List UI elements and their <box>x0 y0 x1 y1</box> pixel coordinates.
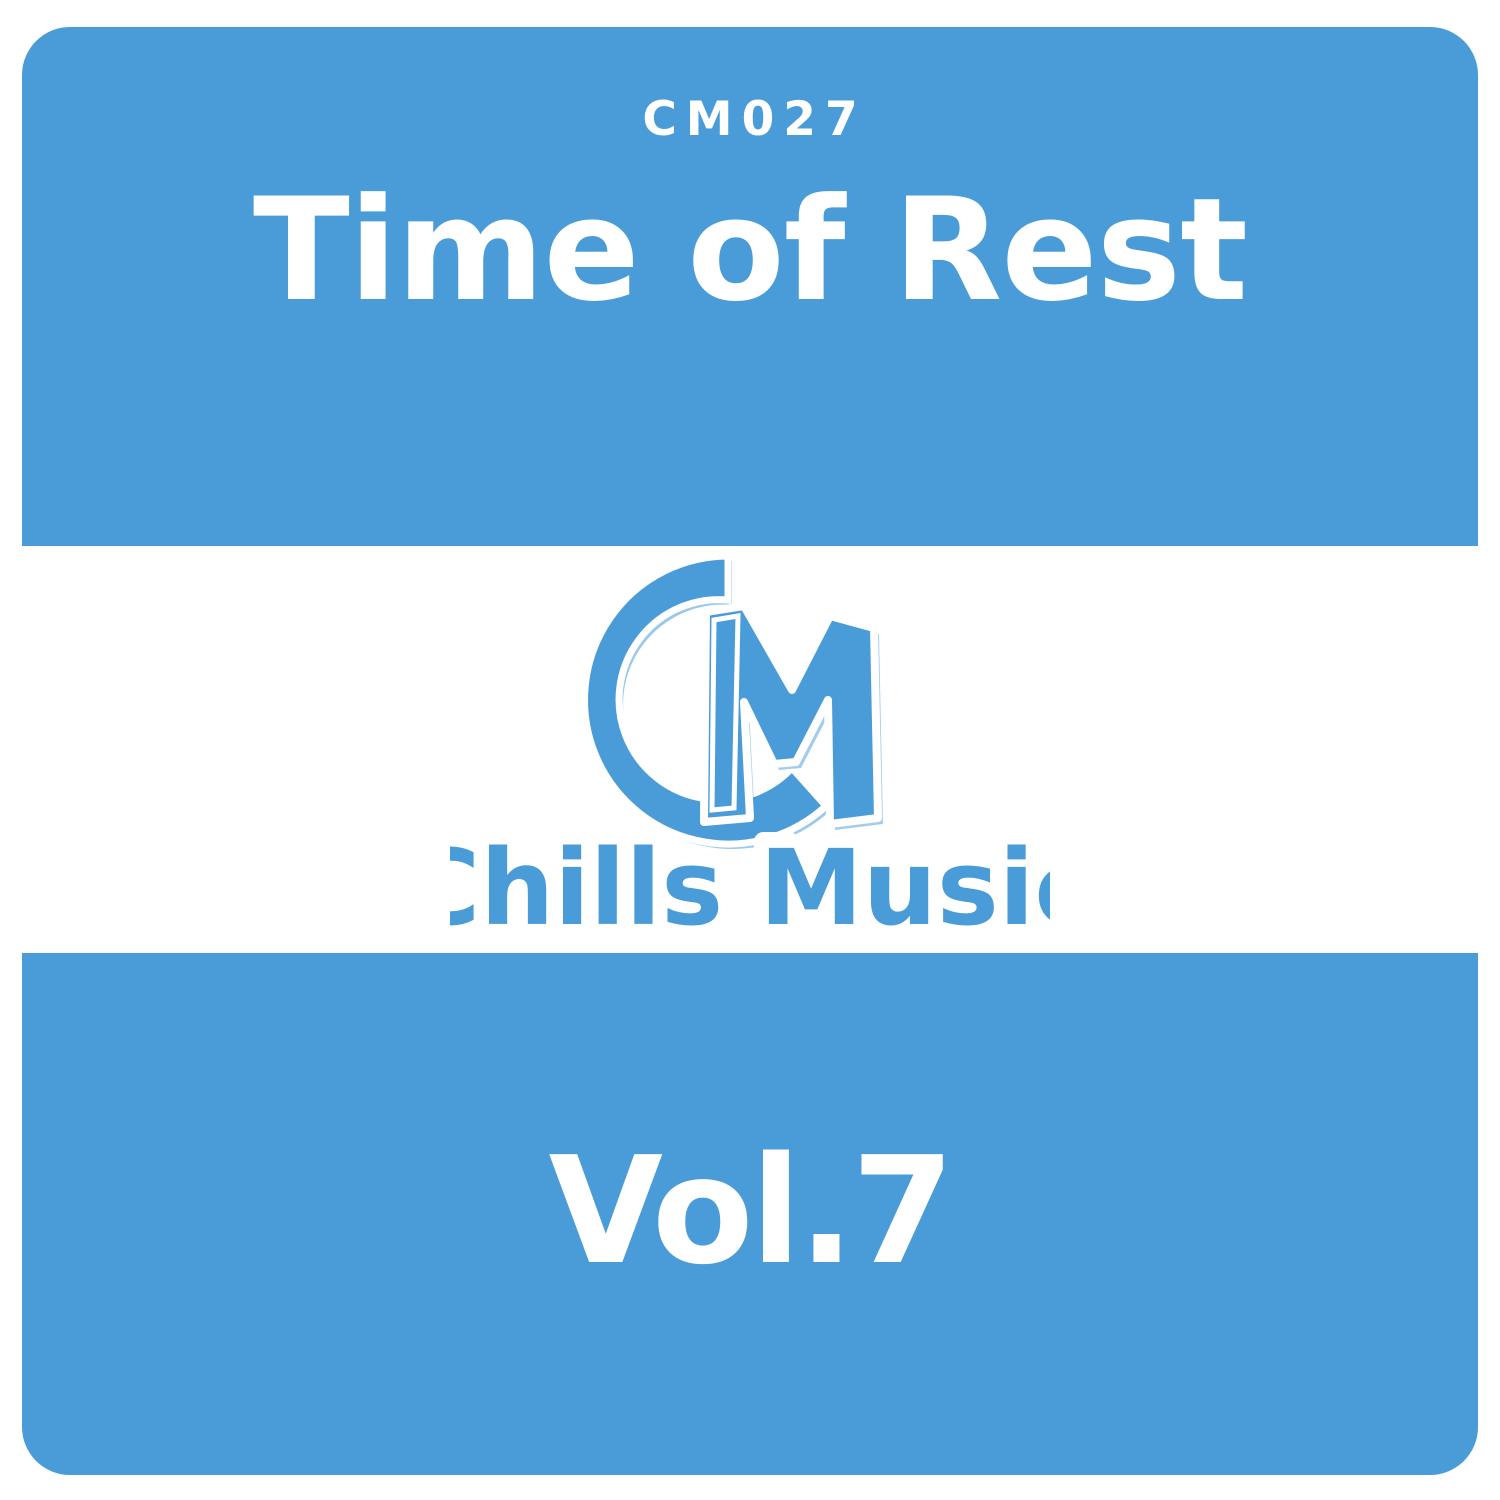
chills-music-cm-monogram-icon <box>578 550 908 850</box>
catalog-number: CM027 <box>0 96 1500 143</box>
album-title: Time of Rest <box>0 176 1500 325</box>
chills-music-wordmark: .wm { font-family: "DejaVu Sans", sans-s… <box>0 832 1500 952</box>
middle-white-band: .wm { font-family: "DejaVu Sans", sans-s… <box>0 546 1500 953</box>
volume-label: Vol.7 <box>0 1134 1500 1289</box>
svg-text:Chills Music: Chills Music <box>450 832 1050 949</box>
album-cover: CM027 Time of Rest <box>0 0 1500 1500</box>
